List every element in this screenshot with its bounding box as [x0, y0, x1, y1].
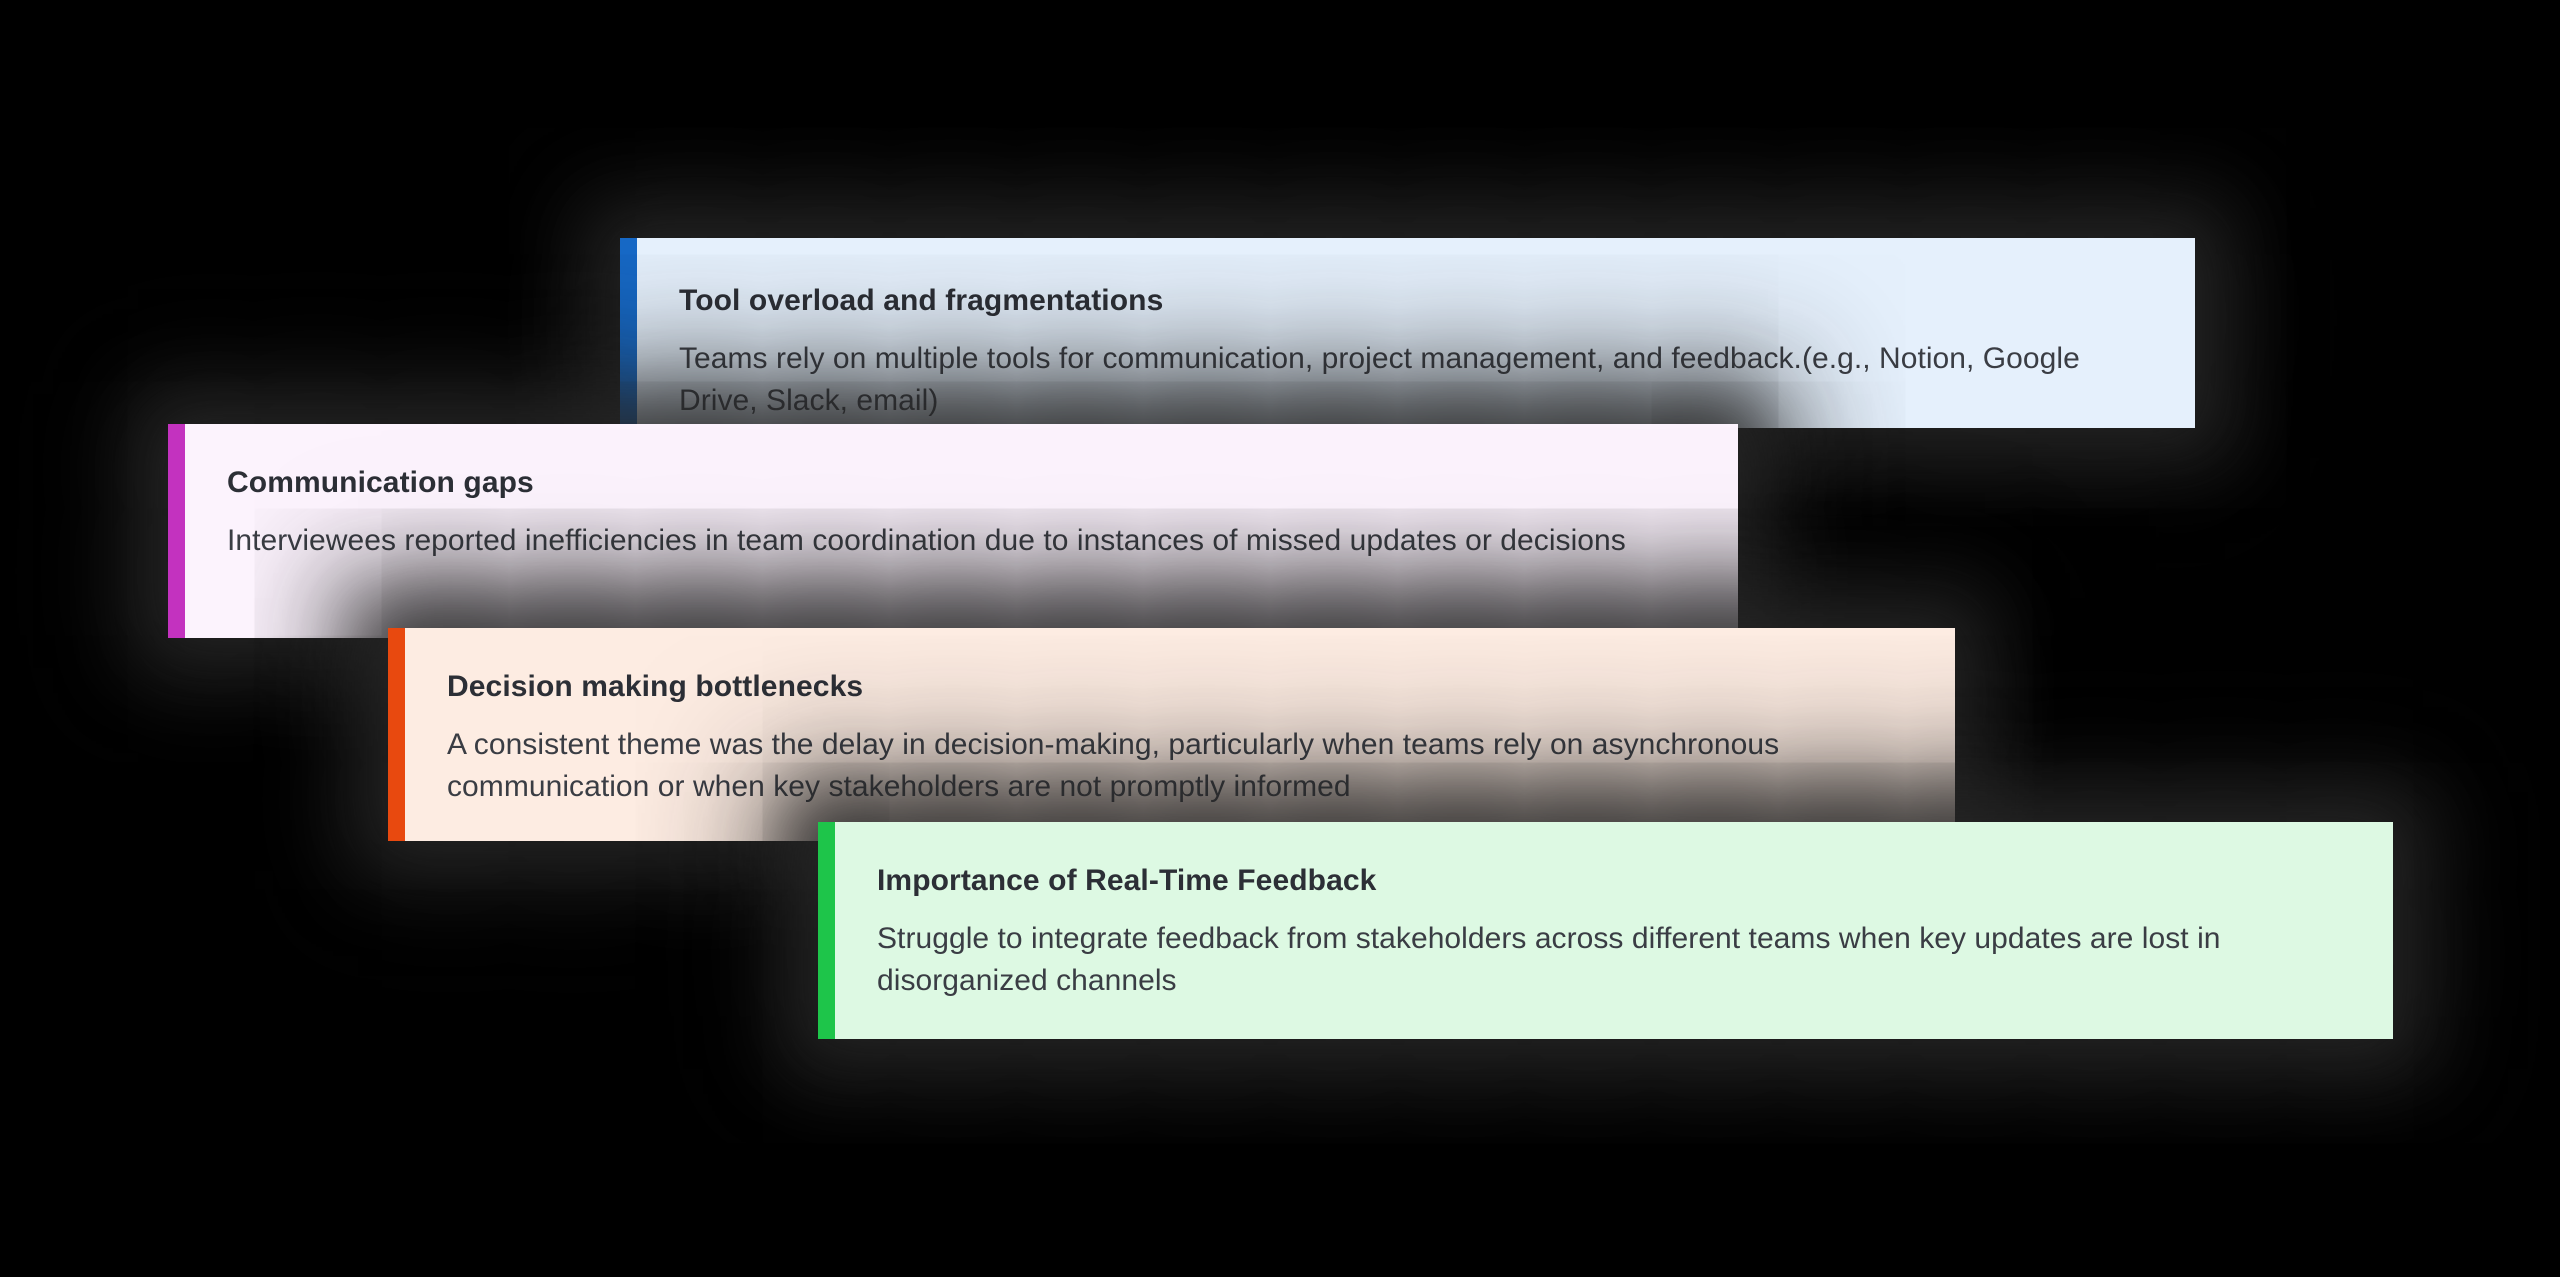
- insight-card-tool-overload[interactable]: Tool overload and fragmentations Teams r…: [620, 238, 2195, 428]
- card-title: Communication gaps: [227, 464, 1694, 502]
- card-body: Tool overload and fragmentations Teams r…: [637, 238, 2195, 428]
- card-title: Importance of Real-Time Feedback: [877, 862, 2349, 900]
- card-description: Interviewees reported inefficiencies in …: [227, 520, 1694, 563]
- accent-bar-magenta: [168, 424, 185, 638]
- card-body: Importance of Real-Time Feedback Struggl…: [835, 822, 2393, 1039]
- insight-card-communication-gaps[interactable]: Communication gaps Interviewees reported…: [168, 424, 1738, 638]
- insight-cards-canvas: Tool overload and fragmentations Teams r…: [0, 0, 2560, 1277]
- card-description: Struggle to integrate feedback from stak…: [877, 918, 2349, 1003]
- accent-bar-blue: [620, 238, 637, 428]
- card-title: Decision making bottlenecks: [447, 668, 1911, 706]
- card-body: Communication gaps Interviewees reported…: [185, 424, 1738, 638]
- card-description: A consistent theme was the delay in deci…: [447, 724, 1911, 809]
- accent-bar-green: [818, 822, 835, 1039]
- card-body: Decision making bottlenecks A consistent…: [405, 628, 1955, 841]
- card-description: Teams rely on multiple tools for communi…: [679, 338, 2151, 423]
- insight-card-decision-making-bottlenecks[interactable]: Decision making bottlenecks A consistent…: [388, 628, 1955, 841]
- insight-card-real-time-feedback[interactable]: Importance of Real-Time Feedback Struggl…: [818, 822, 2393, 1039]
- card-title: Tool overload and fragmentations: [679, 282, 2151, 320]
- accent-bar-orange: [388, 628, 405, 841]
